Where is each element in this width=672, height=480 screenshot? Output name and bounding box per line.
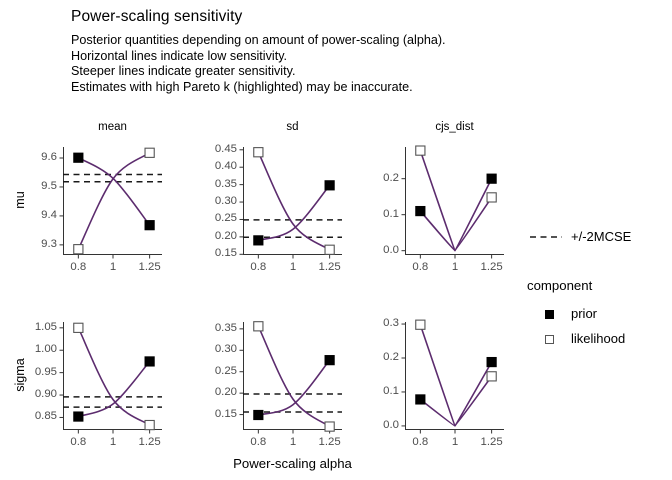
x-tick-label: 1.25: [472, 261, 512, 273]
data-point-prior: [487, 174, 496, 183]
data-point-likelihood: [416, 146, 425, 155]
data-point-likelihood: [416, 320, 425, 329]
panel-mu-cjs_dist: [405, 147, 504, 255]
y-tick-label: 9.3: [11, 238, 57, 250]
panel-sigma-cjs_dist: [405, 322, 504, 430]
data-point-prior: [416, 206, 425, 215]
x-tick-label: 1.25: [310, 436, 350, 448]
y-tick-label: 0.15: [191, 408, 237, 420]
legend-component-title: component: [527, 278, 592, 293]
series-line-likelihood: [78, 153, 149, 249]
y-tick-label: 0.35: [191, 322, 237, 334]
data-point-prior: [74, 153, 83, 162]
panel-canvas: [63, 147, 162, 255]
data-point-prior: [145, 221, 154, 230]
y-tick-label: 9.6: [11, 151, 57, 163]
legend-key-likelihood-icon: [545, 335, 554, 344]
series-line-likelihood: [78, 328, 149, 425]
y-tick-label: 0.20: [191, 230, 237, 242]
data-point-likelihood: [145, 148, 154, 157]
series-line-prior: [78, 361, 149, 416]
x-tick-label: 1: [273, 436, 313, 448]
panel-mu-sd: [243, 147, 342, 255]
series-line-prior: [420, 362, 491, 426]
legend-item-prior-label: prior: [571, 306, 597, 321]
series-line-prior: [258, 185, 329, 240]
data-point-prior: [487, 357, 496, 366]
y-tick-label: 0.0: [353, 244, 399, 256]
legend-item-likelihood-label: likelihood: [571, 331, 625, 346]
data-point-likelihood: [74, 323, 83, 332]
x-tick-label: 1: [435, 261, 475, 273]
data-point-prior: [325, 181, 334, 190]
x-axis-title: Power-scaling alpha: [183, 456, 402, 471]
panel-canvas: [405, 147, 504, 255]
legend-key-prior-icon: [545, 310, 554, 319]
y-tick-label: 0.0: [353, 419, 399, 431]
y-tick-label: 0.1: [353, 385, 399, 397]
data-point-likelihood: [487, 372, 496, 381]
panel-canvas: [243, 322, 342, 430]
y-tick-label: 0.2: [353, 351, 399, 363]
y-tick-label: 0.3: [353, 317, 399, 329]
x-tick-label: 1.25: [310, 261, 350, 273]
data-point-prior: [74, 412, 83, 421]
y-tick-label: 0.2: [353, 172, 399, 184]
data-point-prior: [254, 410, 263, 419]
series-line-likelihood: [420, 325, 491, 426]
panel-sigma-sd: [243, 322, 342, 430]
y-tick-label: 0.90: [11, 388, 57, 400]
data-point-likelihood: [487, 193, 496, 202]
facet-strip-col-sd: sd: [243, 121, 342, 133]
series-line-likelihood: [258, 152, 329, 250]
y-tick-label: 0.25: [191, 365, 237, 377]
y-tick-label: 9.4: [11, 209, 57, 221]
x-tick-label: 1: [273, 261, 313, 273]
data-point-likelihood: [254, 148, 263, 157]
y-tick-label: 0.35: [191, 178, 237, 190]
facet-strip-col-mean: mean: [63, 121, 162, 133]
data-point-likelihood: [325, 422, 334, 431]
series-line-prior: [78, 158, 149, 225]
y-tick-label: 0.95: [11, 366, 57, 378]
y-tick-label: 0.30: [191, 343, 237, 355]
legend-mcse-label: +/-2MCSE: [571, 229, 631, 244]
x-tick-label: 1: [93, 261, 133, 273]
y-tick-label: 0.40: [191, 160, 237, 172]
y-tick-label: 0.1: [353, 208, 399, 220]
y-tick-label: 0.25: [191, 212, 237, 224]
y-tick-label: 9.5: [11, 180, 57, 192]
x-tick-label: 1.25: [472, 436, 512, 448]
y-tick-label: 0.20: [191, 386, 237, 398]
data-point-prior: [254, 236, 263, 245]
series-line-prior: [420, 179, 491, 251]
data-point-prior: [145, 357, 154, 366]
panel-canvas: [405, 322, 504, 430]
x-tick-label: 1: [435, 436, 475, 448]
data-point-likelihood: [74, 245, 83, 254]
data-point-likelihood: [145, 420, 154, 429]
panel-canvas: [243, 147, 342, 255]
x-tick-label: 1.25: [130, 261, 170, 273]
facet-strip-col-cjs_dist: cjs_dist: [405, 121, 504, 133]
data-point-likelihood: [325, 245, 334, 254]
y-tick-label: 0.30: [191, 195, 237, 207]
x-tick-label: 1: [93, 436, 133, 448]
y-tick-label: 0.85: [11, 410, 57, 422]
data-point-likelihood: [254, 322, 263, 331]
y-tick-label: 1.05: [11, 321, 57, 333]
panel-mu-mean: [63, 147, 162, 255]
series-line-prior: [258, 360, 329, 415]
x-tick-label: 1.25: [130, 436, 170, 448]
mcse-dash-icon: [529, 231, 563, 243]
panel-sigma-mean: [63, 322, 162, 430]
y-tick-label: 1.00: [11, 343, 57, 355]
panel-canvas: [63, 322, 162, 430]
data-point-prior: [416, 395, 425, 404]
y-tick-label: 0.45: [191, 143, 237, 155]
data-point-prior: [325, 356, 334, 365]
y-tick-label: 0.15: [191, 247, 237, 259]
